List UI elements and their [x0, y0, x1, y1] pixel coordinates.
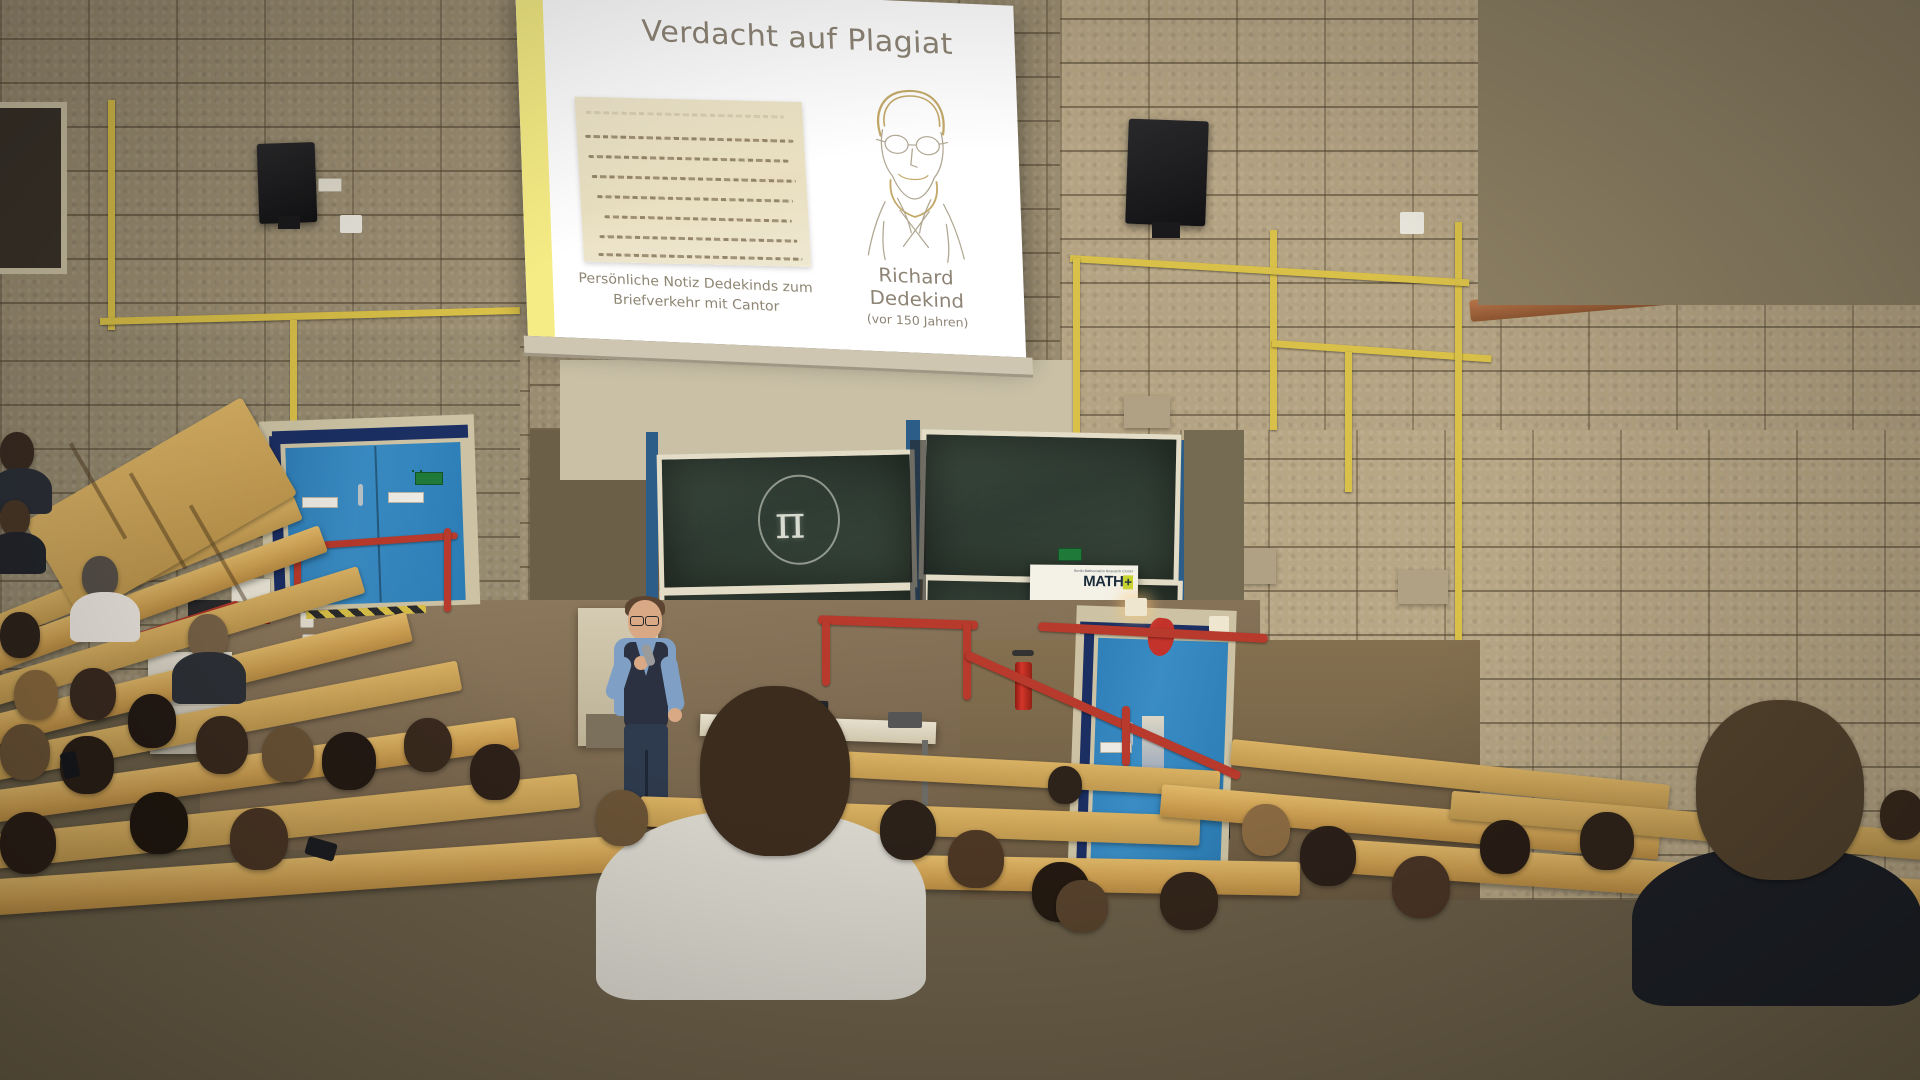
banner-logo-plus: + [1123, 575, 1133, 589]
glasses-icon [645, 616, 659, 626]
wall-speaker-left [257, 142, 318, 224]
pi-symbol: π [774, 495, 805, 550]
emergency-exit-sign [415, 472, 443, 485]
left-door-sign-a [302, 497, 338, 508]
audience-head [1160, 872, 1218, 930]
audience-head [0, 432, 34, 472]
extinguisher-nozzle [1012, 650, 1034, 656]
emergency-exit-sign-right [1058, 548, 1082, 561]
concrete-block [1398, 570, 1448, 604]
blackboard-right [918, 429, 1181, 584]
cable-bracket [340, 215, 362, 233]
audience-head [1056, 880, 1108, 932]
wall-speaker-right [1125, 119, 1209, 227]
speaker-mount [1152, 222, 1180, 238]
wall-lamp [1209, 616, 1229, 632]
banner-logo-text: MATH [1083, 573, 1123, 590]
slide-surface: Verdacht auf Plagiat Persönliche Notiz D… [515, 0, 1026, 358]
audience-head [596, 790, 648, 846]
wall-lamp [1125, 598, 1147, 616]
audience-head [1242, 804, 1290, 856]
audience-head [948, 830, 1004, 888]
audience-head [196, 716, 248, 774]
audience-head [0, 812, 56, 874]
audience-head [70, 668, 116, 720]
audience-head [230, 808, 288, 870]
audience-head [880, 800, 936, 860]
audience-shoulders [172, 652, 246, 704]
audience-head [14, 670, 58, 720]
lecture-hall-photo: Verdacht auf Plagiat Persönliche Notiz D… [0, 0, 1920, 1080]
exit-sign [412, 470, 414, 472]
handwritten-note-image [575, 97, 812, 267]
wall-recess-right [1478, 0, 1920, 305]
audience-head [1580, 812, 1634, 870]
left-door-sign-b [388, 492, 424, 503]
audience-shoulders [0, 532, 46, 574]
blackboard-left: π [657, 449, 918, 592]
banner-logo: Berlin Mathematics Research Center MATH+ [1030, 569, 1138, 602]
speaker-mount [278, 216, 300, 229]
presenter-hand-right [668, 708, 682, 722]
slide-title: Verdacht auf Plagiat [641, 13, 986, 62]
left-door-handle[interactable] [358, 484, 363, 506]
audience-head [322, 732, 376, 790]
dedekind-portrait-illustration [830, 68, 994, 270]
handrail-post-right [1122, 706, 1130, 766]
audience-head [1300, 826, 1356, 886]
audience-head [1880, 790, 1920, 840]
wall-opening [0, 102, 67, 274]
audience-head [1392, 856, 1450, 918]
audience-head [1480, 820, 1530, 874]
foreground-audience-head-right [1696, 700, 1864, 880]
audience-head [1048, 766, 1082, 804]
note-caption-line2: Briefverkehr mit Cantor [613, 291, 780, 314]
audience-head [262, 726, 314, 782]
projection-screen: Verdacht auf Plagiat Persönliche Notiz D… [515, 0, 1029, 366]
audience-head [0, 724, 50, 780]
equipment-box [888, 712, 922, 728]
concrete-block [1124, 396, 1170, 428]
conduit-pipe [108, 100, 115, 330]
person-caption: Richard Dedekind (vor 150 Jahren) [827, 262, 1006, 332]
note-caption: Persönliche Notiz Dedekinds zum Briefver… [544, 268, 848, 320]
audience-head [128, 694, 176, 748]
audience-shoulders [70, 592, 140, 642]
audience-head [0, 612, 40, 658]
glasses-icon [630, 616, 644, 626]
handrail-post [444, 528, 451, 612]
conduit-pipe [1270, 230, 1277, 430]
audience-head [470, 744, 520, 800]
foreground-audience-head [700, 686, 850, 856]
audience-head [404, 718, 452, 772]
handrail-post-right [822, 620, 830, 686]
audience-head [130, 792, 188, 854]
cable-bracket [1400, 212, 1424, 234]
wall-socket [318, 178, 342, 192]
audience-head [0, 500, 30, 536]
conduit-pipe [1345, 352, 1352, 492]
